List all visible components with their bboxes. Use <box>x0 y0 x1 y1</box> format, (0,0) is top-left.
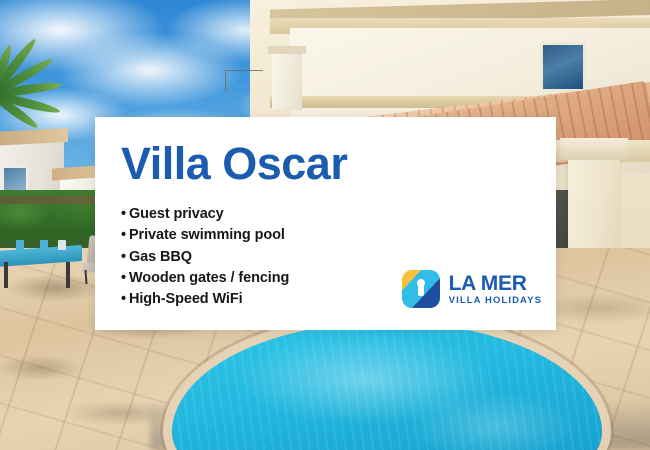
keyhole-glyph <box>417 279 425 287</box>
tableware <box>16 240 24 250</box>
bullet-icon: • <box>121 227 126 243</box>
brand-name: LA MER <box>449 273 542 294</box>
info-card: Villa Oscar •Guest privacy •Private swim… <box>95 117 556 330</box>
list-item: •Guest privacy <box>121 204 530 225</box>
list-item-label: High-Speed WiFi <box>129 291 243 307</box>
page-title: Villa Oscar <box>121 141 530 186</box>
list-item-label: Private swimming pool <box>129 227 285 243</box>
tableware <box>40 240 48 250</box>
window <box>540 42 586 92</box>
chimney <box>272 52 302 110</box>
list-item: •Gas BBQ <box>121 247 530 268</box>
bullet-icon: • <box>121 291 126 307</box>
list-item-label: Guest privacy <box>129 206 224 222</box>
table-leg <box>4 262 8 288</box>
list-item-label: Gas BBQ <box>129 249 192 265</box>
keyhole-icon <box>402 270 440 308</box>
bullet-icon: • <box>121 206 126 222</box>
bullet-icon: • <box>121 249 126 265</box>
brand-tagline: VILLA HOLIDAYS <box>449 296 542 306</box>
pillar-cap <box>560 138 628 160</box>
table-leg <box>66 262 70 288</box>
list-item: •Private swimming pool <box>121 225 530 246</box>
bullet-icon: • <box>121 270 126 286</box>
window <box>2 166 28 192</box>
brand-logo-text: LA MER VILLA HOLIDAYS <box>449 273 542 306</box>
brand-logo: LA MER VILLA HOLIDAYS <box>402 270 542 308</box>
list-item-label: Wooden gates / fencing <box>129 270 289 286</box>
roof <box>0 128 68 146</box>
promo-canvas: Villa Oscar •Guest privacy •Private swim… <box>0 0 650 450</box>
tableware <box>58 240 66 250</box>
antenna <box>225 70 263 92</box>
